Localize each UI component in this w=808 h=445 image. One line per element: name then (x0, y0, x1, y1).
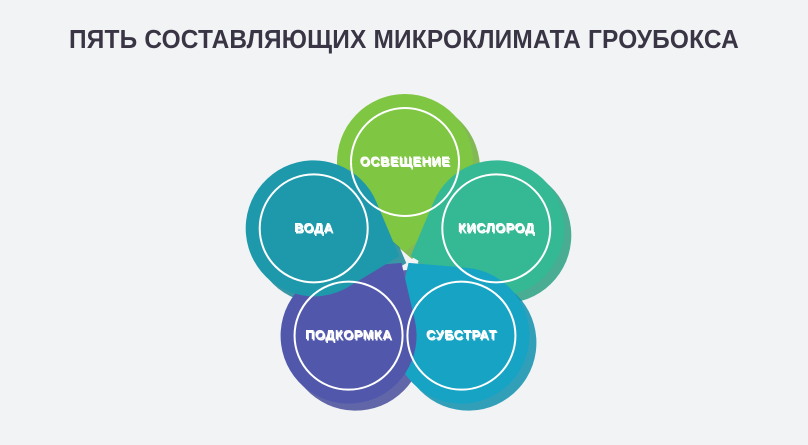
petal-label-1: ОСВЕЩЕНИЕ (360, 153, 450, 168)
petal-diagram-svg: ОСВЕЩЕНИЕОСВЕЩЕНИЕКИСЛОРОДКИСЛОРОДСУБСТР… (0, 0, 808, 445)
petal-label-5: ВОДА (294, 220, 333, 235)
petal-shape-layer (246, 94, 565, 404)
petal-diagram: ОСВЕЩЕНИЕОСВЕЩЕНИЕКИСЛОРОДКИСЛОРОДСУБСТР… (0, 0, 808, 445)
petal-label-2: КИСЛОРОД (458, 220, 535, 235)
infographic-canvas: ПЯТЬ СОСТАВЛЯЮЩИХ МИКРОКЛИМАТА ГРОУБОКСА… (0, 0, 808, 445)
petal-label-4: ПОДКОРМКА (305, 327, 392, 342)
petal-label-3: СУБСТРАТ (426, 327, 497, 342)
